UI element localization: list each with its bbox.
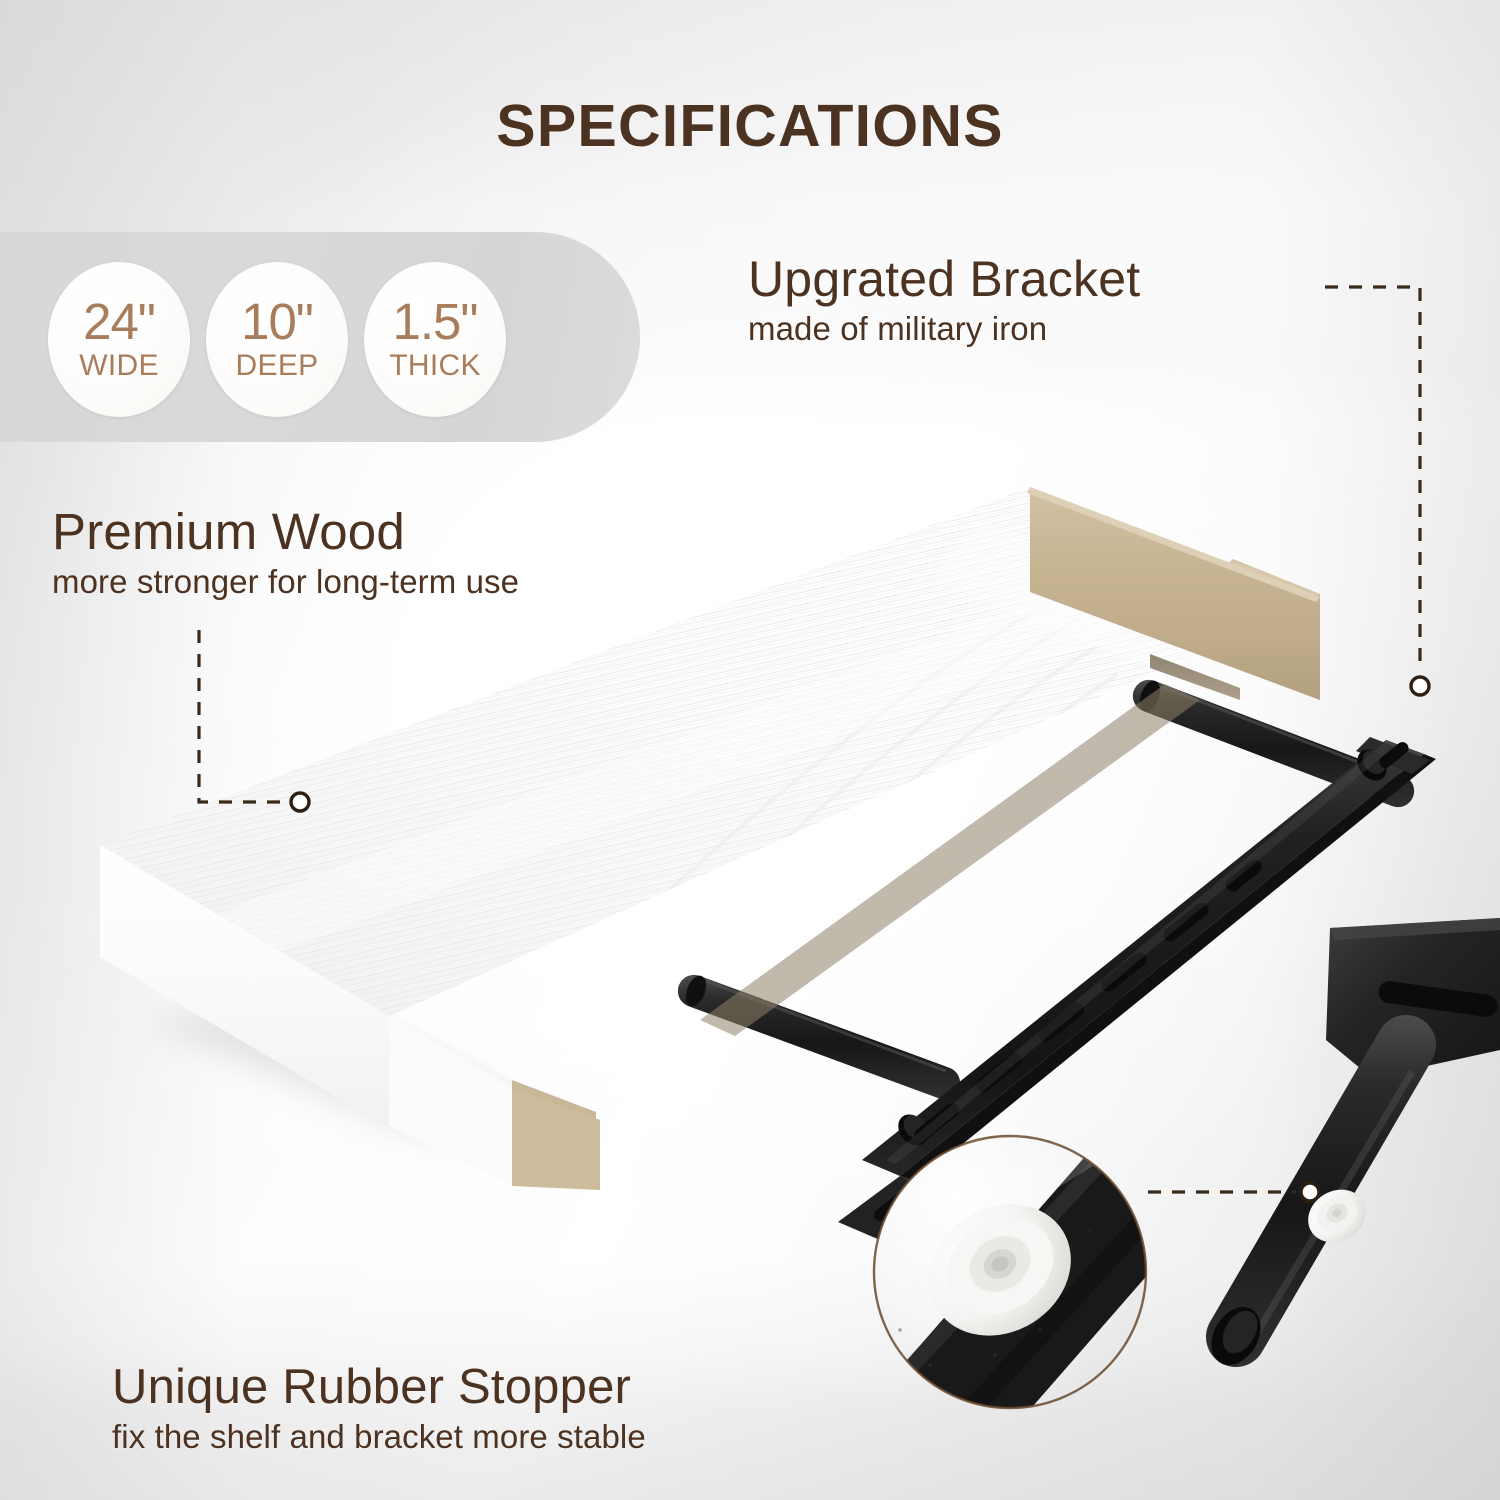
callout-leader-lines: [0, 0, 1500, 1500]
leader-upgrated-bracket: [1325, 287, 1429, 695]
leader-premium-wood: [199, 630, 309, 811]
leader-rubber-stopper: [1148, 1183, 1319, 1201]
